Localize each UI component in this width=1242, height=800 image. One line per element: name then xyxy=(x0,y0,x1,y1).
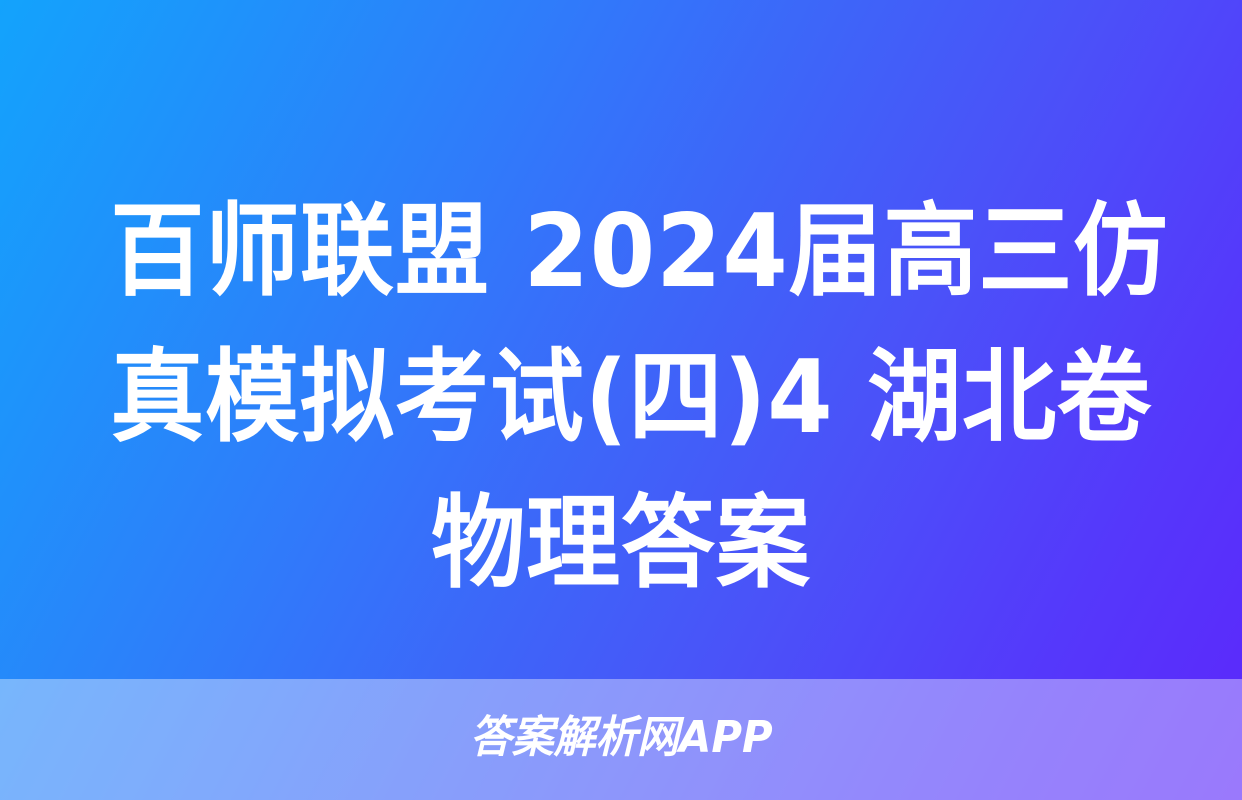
title-line-2: 真模拟考试(四)4 湖北卷 xyxy=(110,324,1131,470)
footer-watermark-band: 答案解析网APP xyxy=(0,679,1242,800)
watermark-text: 答案解析网APP xyxy=(470,716,773,760)
title-card: 百师联盟 2024届高三仿 真模拟考试(四)4 湖北卷 物理答案 答案解析网AP… xyxy=(0,0,1242,800)
title-line-3: 物理答案 xyxy=(110,470,1131,616)
title-line-1: 百师联盟 2024届高三仿 xyxy=(110,178,1131,324)
page-title: 百师联盟 2024届高三仿 真模拟考试(四)4 湖北卷 物理答案 xyxy=(0,178,1242,616)
